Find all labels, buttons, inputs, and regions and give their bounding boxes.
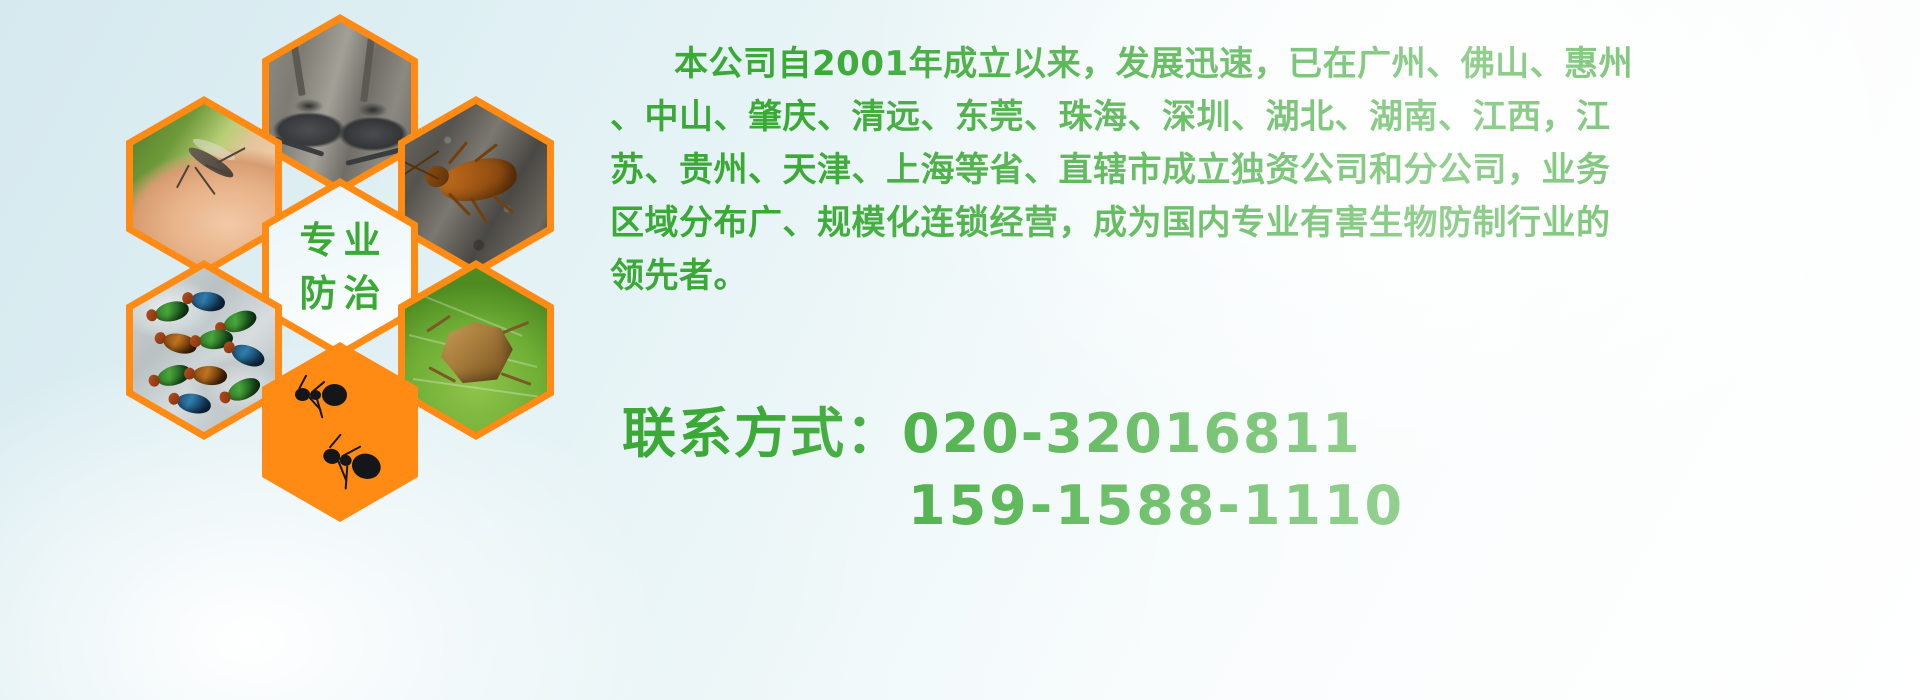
company-intro-paragraph: 本公司自2001年成立以来，发展迅速，已在广州、佛山、惠州 、中山、肇庆、清远、… bbox=[610, 38, 1910, 303]
stink-bug-image-art bbox=[405, 268, 547, 432]
hex-cell-stink-bug[interactable] bbox=[398, 260, 554, 440]
honeycomb-collage: 专业 防治 bbox=[90, 14, 590, 544]
intro-line-1: 本公司自2001年成立以来，发展迅速，已在广州、佛山、惠州 bbox=[610, 38, 1910, 91]
intro-line-4: 区域分布广、规模化连锁经营，成为国内专业有害生物防制行业的 bbox=[610, 197, 1910, 250]
intro-line-2: 、中山、肇庆、清远、东莞、珠海、深圳、湖北、湖南、江西，江 bbox=[610, 91, 1910, 144]
hex-cell-flies[interactable] bbox=[126, 260, 282, 440]
hex-cell-mosquito[interactable] bbox=[126, 96, 282, 276]
blow-flies-photo bbox=[133, 268, 275, 432]
stink-bug-photo bbox=[405, 268, 547, 432]
mosquito-image-art bbox=[133, 104, 275, 268]
mosquito-photo bbox=[133, 104, 275, 268]
intro-line-3: 苏、贵州、天津、上海等省、直辖市成立独资公司和分公司，业务 bbox=[610, 144, 1910, 197]
cockroach-image-art bbox=[405, 104, 547, 268]
slogan-hex-inner: 专业 防治 bbox=[269, 186, 411, 350]
ants-photo bbox=[269, 350, 411, 514]
slogan-line-1: 专业 bbox=[293, 215, 388, 268]
ants-image-art bbox=[269, 350, 411, 514]
hex-cell-cockroach[interactable] bbox=[398, 96, 554, 276]
flies-image-art bbox=[133, 268, 275, 432]
rats-image-art bbox=[269, 22, 411, 186]
banner-canvas: 专业 防治 bbox=[0, 0, 1920, 700]
contact-phone-primary[interactable]: 联系方式：020-32016811 bbox=[622, 398, 1912, 470]
hex-cell-ants[interactable] bbox=[262, 342, 418, 522]
slogan-line-2: 防治 bbox=[293, 268, 388, 321]
hex-cell-rats[interactable] bbox=[262, 14, 418, 194]
cockroach-photo bbox=[405, 104, 547, 268]
intro-line-5: 领先者。 bbox=[610, 250, 1910, 303]
contact-phone-secondary[interactable]: 159-1588-1110 bbox=[622, 470, 1912, 542]
contact-block: 联系方式：020-32016811 159-1588-1110 bbox=[622, 398, 1912, 542]
hex-cell-slogan: 专业 防治 bbox=[262, 178, 418, 358]
rats-photo bbox=[269, 22, 411, 186]
